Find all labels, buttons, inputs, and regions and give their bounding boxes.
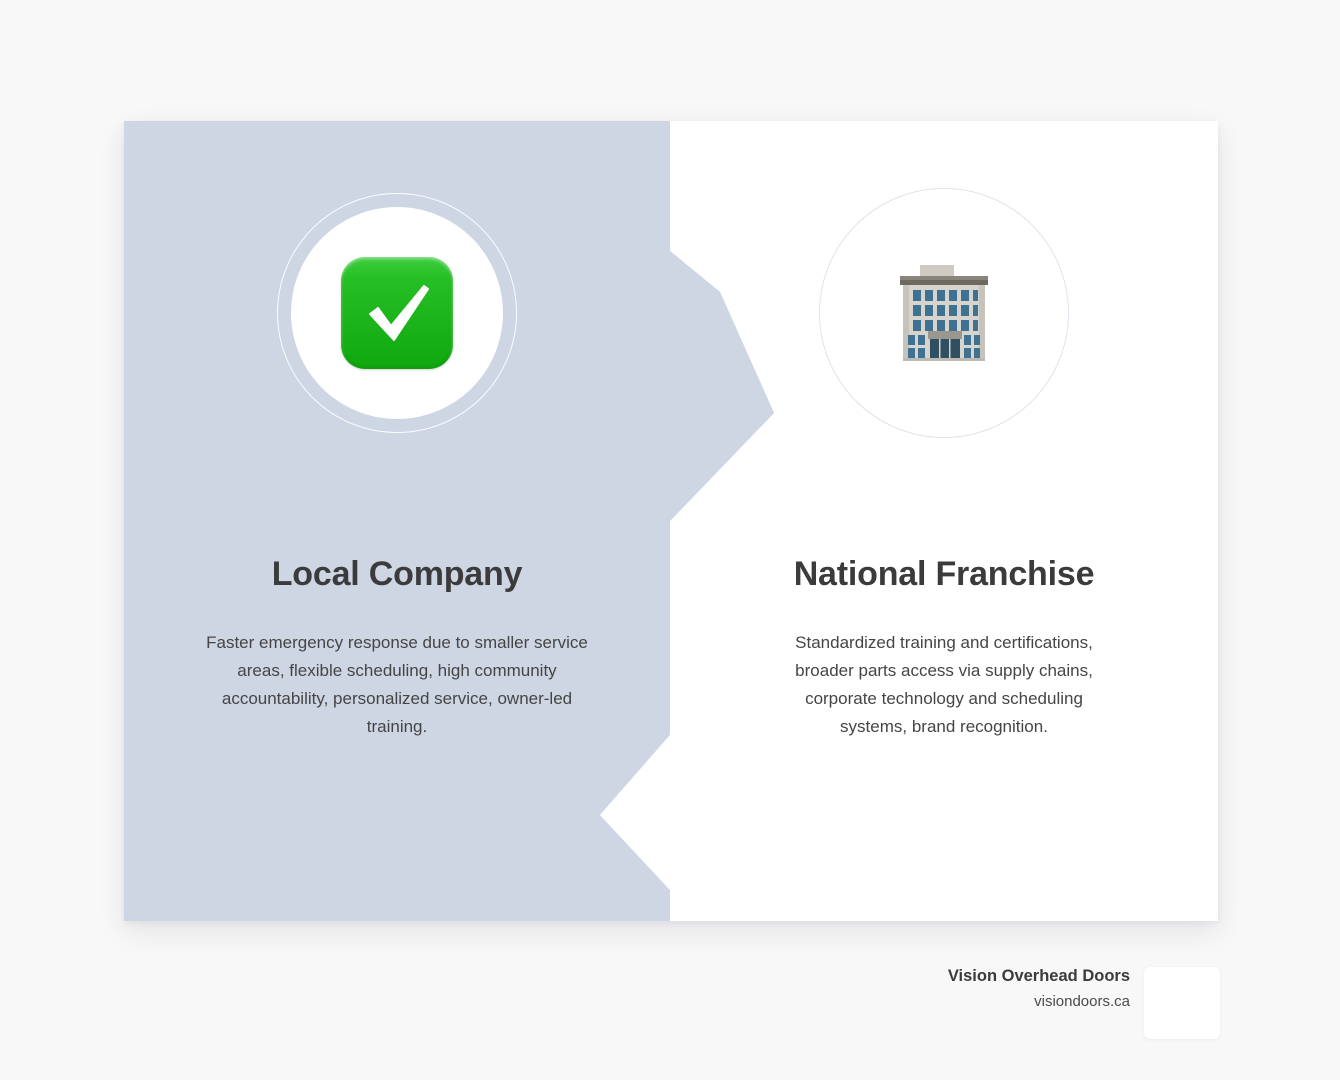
local-company-description: Faster emergency response due to smaller… bbox=[124, 629, 670, 741]
national-franchise-description: Standardized training and certifications… bbox=[670, 629, 1218, 741]
national-franchise-title: National Franchise bbox=[670, 555, 1218, 594]
brand-logo-placeholder bbox=[1144, 967, 1220, 1039]
office-building-icon bbox=[892, 263, 996, 363]
column-national-franchise: National Franchise Standardized training… bbox=[670, 121, 1218, 921]
national-franchise-icon-stage bbox=[670, 185, 1218, 441]
brand-website: visiondoors.ca bbox=[948, 989, 1130, 1015]
comparison-board: Local Company Faster emergency response … bbox=[124, 121, 1218, 921]
brand-footer: Vision Overhead Doors visiondoors.ca bbox=[860, 963, 1220, 1041]
brand-name: Vision Overhead Doors bbox=[948, 963, 1130, 989]
white-heavy-check-mark-icon bbox=[341, 257, 453, 369]
column-local-company: Local Company Faster emergency response … bbox=[124, 121, 670, 921]
brand-text-group: Vision Overhead Doors visiondoors.ca bbox=[948, 963, 1130, 1015]
icon-outline-circle bbox=[819, 188, 1069, 438]
local-company-icon-stage bbox=[124, 185, 670, 441]
icon-disc bbox=[291, 207, 503, 419]
local-company-title: Local Company bbox=[124, 555, 670, 594]
